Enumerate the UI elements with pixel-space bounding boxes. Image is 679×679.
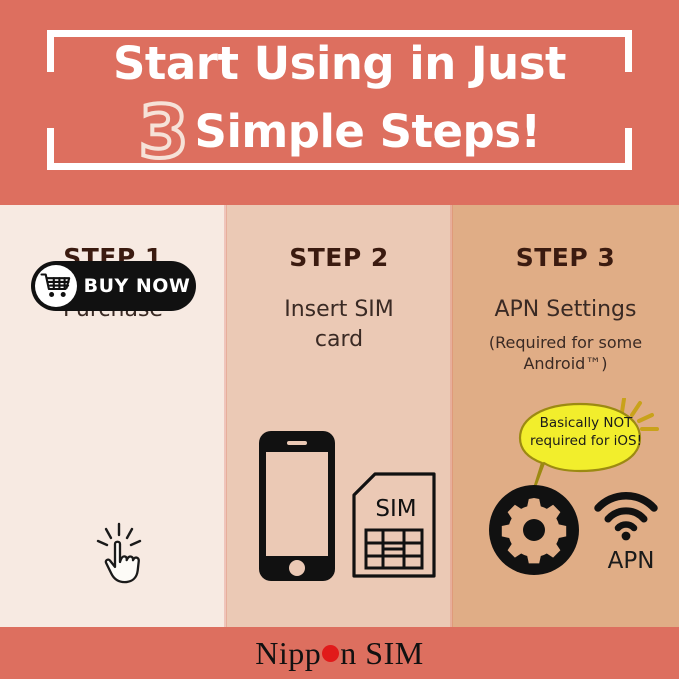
step-3-title: STEP 3	[452, 243, 679, 272]
logo-suffix: n SIM	[340, 635, 423, 671]
brand-logo: Nippn SIM	[0, 627, 679, 679]
buy-now-button[interactable]: BUY NOW	[31, 261, 196, 311]
column-divider-2	[450, 205, 453, 627]
cart-icon-background	[35, 265, 77, 307]
wifi-arc-middle-icon	[608, 511, 644, 519]
headline-line-1: Start Using in Just	[0, 41, 679, 86]
gear-icon	[488, 484, 580, 581]
wifi-arc-outer-icon	[598, 496, 654, 508]
headline-line-2-text: Simple Steps!	[195, 109, 541, 154]
pointing-hand-icon	[90, 522, 162, 595]
step-2-title: STEP 2	[226, 243, 452, 272]
hand-shape-icon	[106, 542, 139, 582]
phone-home-button-icon	[289, 560, 305, 576]
sim-card-icon: SIM	[352, 472, 436, 583]
cart-wheel-right-icon	[61, 292, 66, 297]
wifi-dot-icon	[622, 532, 631, 541]
header-banner: Start Using in Just 3Simple Steps!	[0, 0, 679, 205]
phone-speaker-icon	[287, 441, 307, 445]
step-3-note: (Required for someAndroid™)	[452, 333, 679, 375]
bracket-top-line	[47, 30, 632, 37]
gear-disc-icon	[489, 485, 579, 575]
sim-label: SIM	[375, 496, 416, 522]
column-divider-1	[224, 205, 227, 627]
sim-chip-grid-icon	[366, 530, 422, 568]
logo-red-dot-icon	[322, 645, 339, 662]
infographic-root: Start Using in Just 3Simple Steps! STEP …	[0, 0, 679, 679]
phone-screen-icon	[266, 452, 328, 556]
cart-wheel-left-icon	[49, 292, 54, 297]
step-3-subtitle: APN Settings	[452, 295, 679, 325]
headline-line-2: 3Simple Steps!	[0, 96, 679, 168]
wifi-arc-inner-icon	[618, 525, 634, 528]
apn-label: APN	[586, 548, 676, 574]
shopping-cart-icon	[35, 265, 77, 307]
logo-prefix: Nipp	[255, 635, 321, 671]
step-count-numeral: 3	[138, 96, 188, 168]
buy-now-label: BUY NOW	[81, 261, 193, 311]
ios-note-text: Basically NOTrequired for iOS!	[522, 414, 650, 450]
footer-banner: Nippn SIM	[0, 627, 679, 679]
step-2-subtitle: Insert SIMcard	[226, 295, 452, 354]
smartphone-icon	[258, 430, 336, 587]
wifi-icon	[592, 490, 660, 547]
